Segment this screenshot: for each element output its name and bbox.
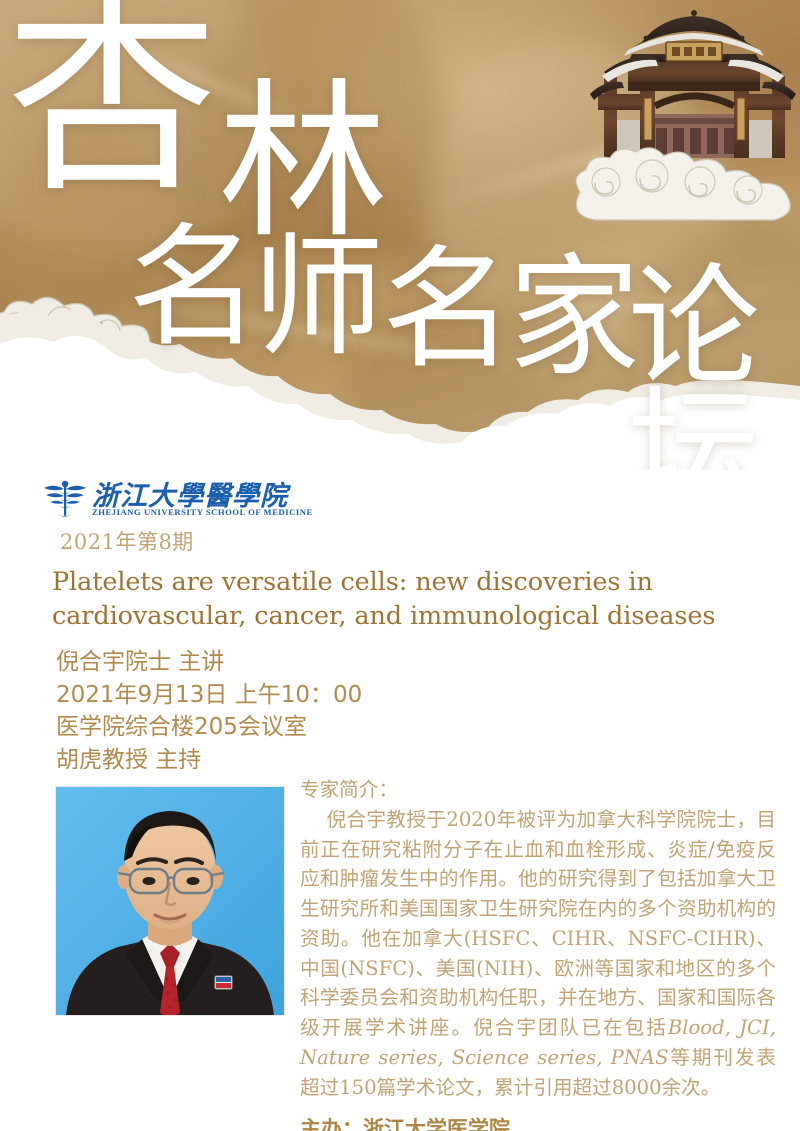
caduceus-wings-icon: [42, 478, 88, 520]
series-char-1: 杏: [6, 0, 218, 204]
subtitle-char-1: 名: [128, 222, 260, 354]
speaker-portrait: [55, 786, 285, 1016]
venue-line: 医学院综合楼205会议室: [56, 711, 486, 744]
event-details: 倪合宇院士 主讲 2021年9月13日 上午10：00 医学院综合楼205会议室…: [56, 646, 486, 777]
banner-background: 杏 林 名 师 名 家 论 坛: [0, 0, 800, 478]
organizer-line: 主办：浙江大学医学院: [300, 1113, 510, 1131]
speaker-bio: 专家简介： 倪合宇教授于2020年被评为加拿大科学院院士，目前正在研究粘附分子在…: [300, 775, 776, 1103]
logo-english-name: ZHEJIANG UNIVERSITY SCHOOL OF MEDICINE: [92, 507, 313, 517]
speaker-line: 倪合宇院士 主讲: [56, 646, 486, 679]
issue-number: 2021年第8期: [60, 526, 194, 556]
bio-heading: 专家简介：: [300, 775, 776, 805]
subtitle-char-4: 家: [508, 252, 640, 384]
bio-indent: [300, 808, 326, 831]
content-area: 浙江大學醫學院 ZHEJIANG UNIVERSITY SCHOOL OF ME…: [0, 470, 800, 1131]
lecture-title-english: Platelets are versatile cells: new disco…: [52, 566, 758, 634]
university-logo: 浙江大學醫學院 ZHEJIANG UNIVERSITY SCHOOL OF ME…: [42, 476, 302, 524]
portrait-image: [56, 787, 284, 1015]
bio-part1: 倪合宇教授于2020年被评为加拿大科学院院士，目前正在研究粘附分子在止血和血栓形…: [300, 808, 776, 1039]
poster-root: 杏 林 名 师 名 家 论 坛: [0, 0, 800, 1131]
auspicious-cloud-icon: [560, 120, 800, 230]
subtitle-char-6: 坛: [628, 384, 760, 478]
datetime-line: 2021年9月13日 上午10：00: [56, 679, 486, 712]
subtitle-char-3: 名: [382, 244, 514, 376]
host-line: 胡虎教授 主持: [56, 744, 486, 777]
subtitle-char-2: 师: [252, 232, 384, 364]
